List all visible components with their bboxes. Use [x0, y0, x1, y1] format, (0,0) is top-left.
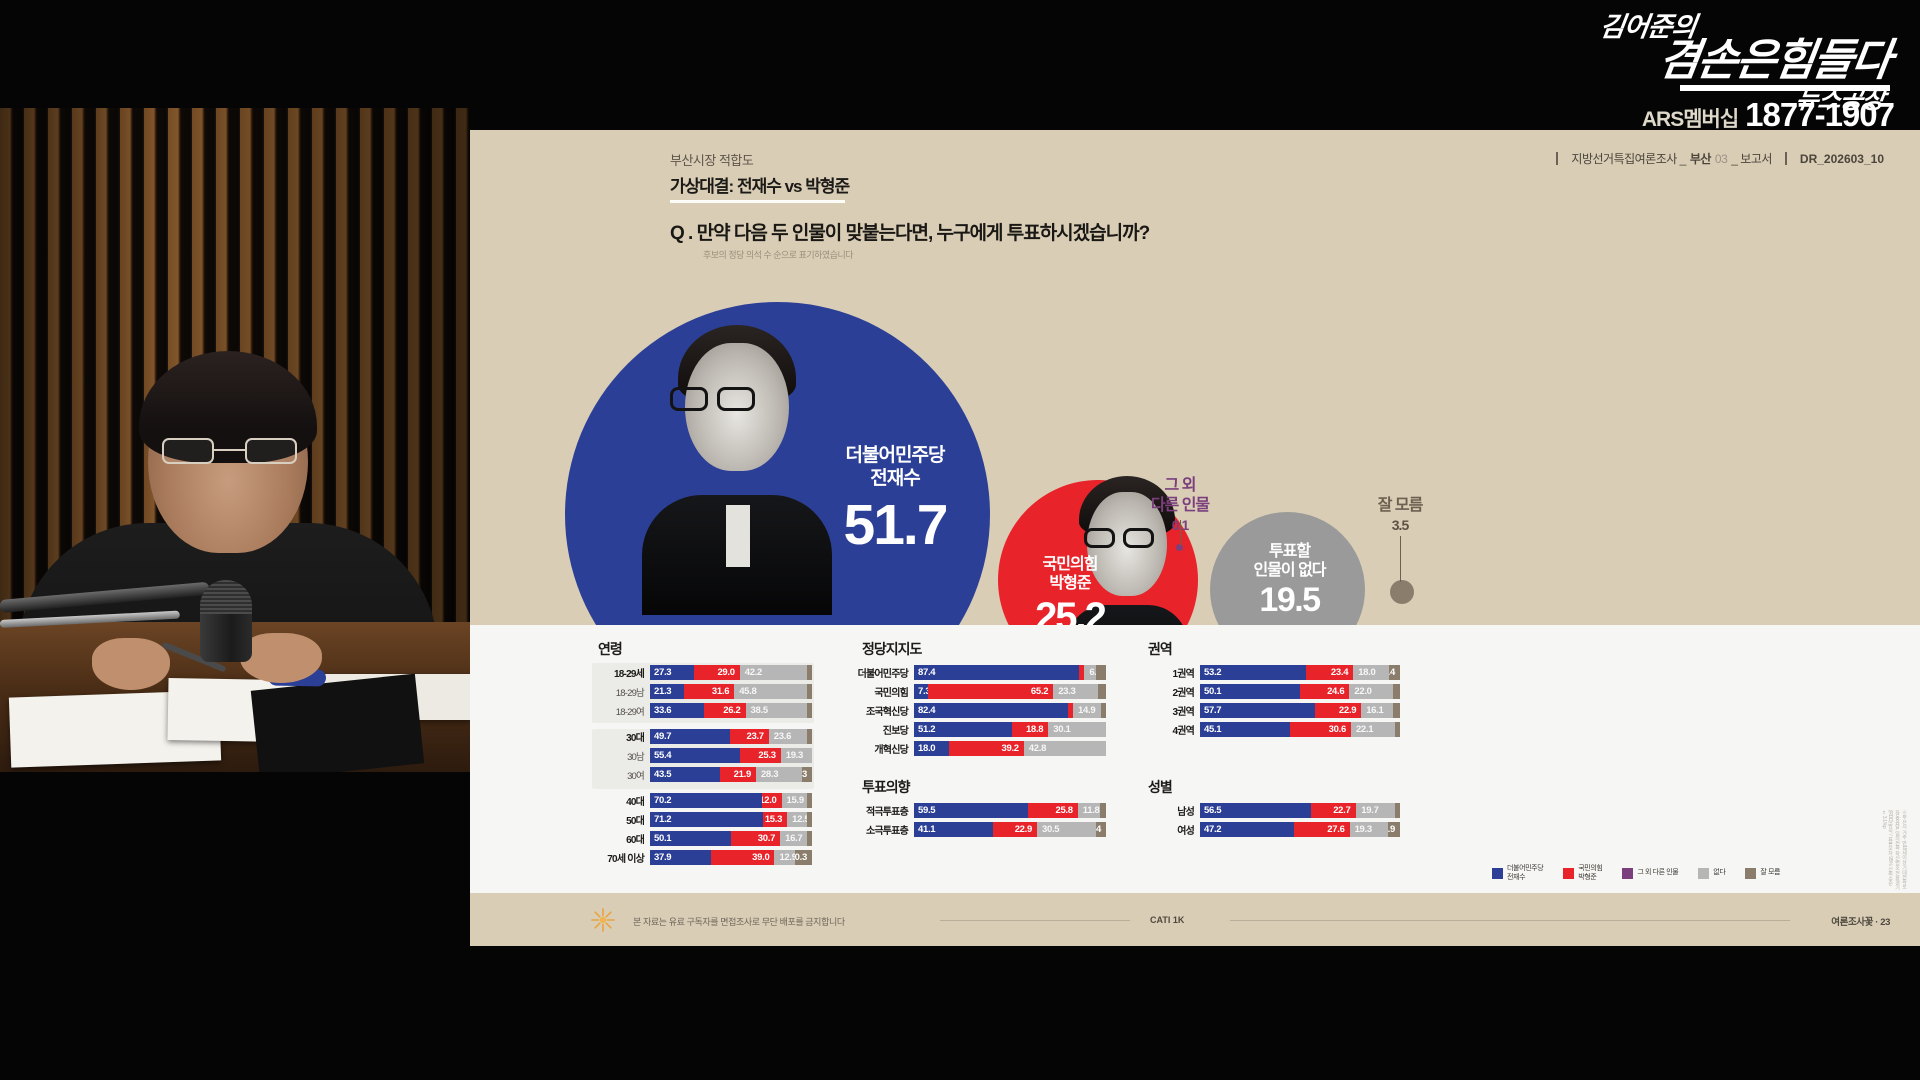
bubble-dontknow	[1390, 580, 1414, 604]
table-row: 적극투표층59.525.811.8	[856, 803, 1106, 818]
bar-segment-dk	[1395, 722, 1400, 737]
callout-dk-value: 3.5	[1335, 517, 1465, 535]
bar-segment-ppp: 25.3	[740, 748, 781, 763]
bar-segment-none: 45.8	[734, 684, 807, 699]
meta-survey: 지방선거특집여론조사 _	[1571, 150, 1685, 167]
bar-segment-ppp: 15.3	[763, 812, 787, 827]
legend-label: 없다	[1713, 869, 1725, 878]
stacked-bar: 87.46.4	[914, 665, 1106, 680]
bar-segment-dem: 49.7	[650, 729, 730, 744]
chart-intent: 적극투표층59.525.811.8소극투표층41.122.930.55.4	[856, 803, 1106, 841]
stacked-bar: 56.522.719.7	[1200, 803, 1400, 818]
hero-dem-name: 전재수	[795, 468, 995, 491]
host-hand-left	[92, 638, 170, 690]
table-row: 1권역53.223.418.05.4	[1142, 665, 1400, 680]
meta-code: DR_202603_10	[1800, 152, 1884, 166]
table-row: 30여43.521.928.36.3	[592, 767, 812, 782]
bar-segment-dk	[807, 831, 812, 846]
row-label: 18-29남	[592, 685, 650, 699]
bar-segment-dem: 7.3	[914, 684, 928, 699]
row-label: 더불어민주당	[856, 665, 914, 680]
meta-divider-2	[1785, 152, 1787, 165]
hero-none-line1: 투표할	[1222, 542, 1357, 561]
bar-segment-dk: 10.3	[795, 850, 812, 865]
bar-segment-ppp: 22.9	[993, 822, 1037, 837]
legend-swatch	[1563, 868, 1574, 879]
bar-segment-none: 30.5	[1037, 822, 1096, 837]
group-title-region: 권역	[1148, 639, 1172, 659]
ars-label: ARS멤버십	[1642, 103, 1738, 133]
legend-item: 그 외 다른 인물	[1622, 868, 1678, 879]
chart-party: 더불어민주당87.46.4국민의힘7.365.223.3조국혁신당82.414.…	[856, 665, 1106, 760]
bar-segment-none: 18.0	[1353, 665, 1389, 680]
bar-segment-dem: 41.1	[914, 822, 993, 837]
table-row: 4권역45.130.622.1	[1142, 722, 1400, 737]
bar-segment-dk	[807, 729, 812, 744]
stacked-bar: 21.331.645.8	[650, 684, 812, 699]
host-hand-right	[240, 633, 322, 683]
bar-segment-dem: 71.2	[650, 812, 763, 827]
table-row: 60대50.130.716.7	[592, 831, 812, 846]
row-label: 2권역	[1142, 684, 1200, 699]
stacked-bar: 18.039.242.8	[914, 741, 1106, 756]
bar-segment-none: 6.4	[1084, 665, 1096, 680]
bar-segment-dem: 27.3	[650, 665, 694, 680]
bar-segment-dk	[1395, 803, 1400, 818]
stacked-bar: 50.124.622.0	[1200, 684, 1400, 699]
bar-segment-ppp: 30.7	[731, 831, 780, 846]
table-row: 소극투표층41.122.930.55.4	[856, 822, 1106, 837]
bar-segment-ppp: 27.6	[1294, 822, 1349, 837]
bar-segment-none: 28.3	[756, 767, 802, 782]
stacked-bar: 47.227.619.35.9	[1200, 822, 1400, 837]
hero-label-dem: 더불어민주당 전재수 51.7	[795, 445, 995, 554]
stacked-bar: 55.425.319.3	[650, 748, 812, 763]
bar-segment-dk: 6.3	[802, 767, 812, 782]
footer-left-note: 본 자료는 유료 구독자를 면접조사로 무단 배포를 금지합니다	[633, 915, 845, 928]
bar-segment-dk	[1096, 665, 1106, 680]
row-label: 적극투표층	[856, 803, 914, 818]
row-label: 조국혁신당	[856, 703, 914, 718]
slide-meta: 지방선거특집여론조사 _ 부산 03 _ 보고서 DR_202603_10	[1556, 150, 1884, 167]
hero-bubbles: 더불어민주당 전재수 51.7 국민의힘 박형준 25.2 투표할 인물이 없다…	[470, 280, 1920, 625]
bar-segment-none: 23.6	[769, 729, 807, 744]
chart-legend: 더불어민주당전재수국민의힘박형준그 외 다른 인물없다잘 모름	[1492, 865, 1780, 883]
bar-segment-dk	[807, 703, 812, 718]
row-label: 3권역	[1142, 703, 1200, 718]
bar-segment-dk: 5.4	[1096, 822, 1106, 837]
host-glasses	[162, 438, 297, 464]
bar-segment-ppp: 22.9	[1315, 703, 1361, 718]
callout-other-line2: 다른 인물	[1115, 496, 1245, 516]
legend-label: 국민의힘박형준	[1578, 865, 1602, 883]
stacked-bar: 49.723.723.6	[650, 729, 812, 744]
bar-segment-dem: 50.1	[1200, 684, 1300, 699]
stacked-bar: 37.939.012.910.3	[650, 850, 812, 865]
broadcast-screen: 김어준의 겸손은힘들다 뉴스공장 ARS멤버십 1877-1907 부산시장 적…	[0, 0, 1920, 1080]
bar-segment-none: 42.2	[740, 665, 807, 680]
callout-dk-line1: 잘 모름	[1335, 496, 1465, 516]
bar-segment-dem: 18.0	[914, 741, 949, 756]
bar-segment-dem: 45.1	[1200, 722, 1290, 737]
meta-number: 03	[1715, 152, 1727, 166]
row-label: 18-29세	[592, 665, 650, 680]
bar-segment-dem: 50.1	[650, 831, 731, 846]
stacked-bar: 43.521.928.36.3	[650, 767, 812, 782]
bar-segment-none: 30.1	[1048, 722, 1106, 737]
table-row: 조국혁신당82.414.9	[856, 703, 1106, 718]
chart-age: 18-29세27.329.042.218-29남21.331.645.818-2…	[592, 665, 812, 869]
bar-segment-dem: 53.2	[1200, 665, 1306, 680]
bar-segment-ppp: 26.2	[704, 703, 746, 718]
bar-segment-dk	[1100, 803, 1106, 818]
bar-segment-dem: 33.6	[650, 703, 704, 718]
group-title-intent: 투표의향	[862, 777, 910, 797]
bar-segment-none: 23.3	[1053, 684, 1098, 699]
bar-segment-ppp: 39.0	[711, 850, 774, 865]
legend-item: 더불어민주당전재수	[1492, 865, 1543, 883]
logo-line-2: 겸손은힘들다	[1557, 39, 1893, 83]
bar-segment-none: 42.8	[1024, 741, 1106, 756]
row-label: 18-29여	[592, 704, 650, 718]
legend-label: 그 외 다른 인물	[1637, 869, 1678, 878]
legend-swatch	[1492, 868, 1503, 879]
row-label: 개혁신당	[856, 741, 914, 756]
side-vertical-note: ※부산시 거주 만18세이상 기대전화로 자동응답, 임의전화 착신번호 전화걸…	[1881, 810, 1908, 893]
row-label: 60대	[592, 831, 650, 846]
table-row: 40대70.212.015.9	[592, 793, 812, 808]
crosstab-panel: 연령 정당지지도 권역 투표의향 성별 18-29세27.329.042.218…	[470, 625, 1920, 893]
bar-segment-ppp: 23.4	[1306, 665, 1353, 680]
table-row: 국민의힘7.365.223.3	[856, 684, 1106, 699]
bar-segment-dem: 59.5	[914, 803, 1028, 818]
bar-segment-none: 11.8	[1078, 803, 1101, 818]
chart-region: 1권역53.223.418.05.42권역50.124.622.03권역57.7…	[1142, 665, 1400, 741]
bar-segment-dem: 87.4	[914, 665, 1079, 680]
row-label: 진보당	[856, 722, 914, 737]
footer-rule-right	[1230, 920, 1790, 921]
stacked-bar: 51.218.830.1	[914, 722, 1106, 737]
table-row: 3권역57.722.916.1	[1142, 703, 1400, 718]
bar-segment-ppp: 23.7	[730, 729, 768, 744]
bar-segment-ppp: 65.2	[928, 684, 1053, 699]
bar-segment-ppp: 24.6	[1300, 684, 1349, 699]
legend-item: 잘 모름	[1745, 868, 1780, 879]
row-label: 40대	[592, 793, 650, 808]
studio-video-feed	[0, 108, 470, 772]
bar-segment-dk: 5.9	[1388, 822, 1400, 837]
bar-segment-none: 12.5	[787, 812, 807, 827]
stacked-bar: 59.525.811.8	[914, 803, 1106, 818]
table-row: 50대71.215.312.5	[592, 812, 812, 827]
bar-segment-dem: 57.7	[1200, 703, 1315, 718]
stacked-bar: 53.223.418.05.4	[1200, 665, 1400, 680]
table-row: 더불어민주당87.46.4	[856, 665, 1106, 680]
table-row: 남성56.522.719.7	[1142, 803, 1400, 818]
legend-swatch	[1698, 868, 1709, 879]
footer-rule-left	[940, 920, 1130, 921]
row-label: 30여	[592, 768, 650, 782]
group-title-gender: 성별	[1148, 777, 1172, 797]
table-row: 30대49.723.723.6	[592, 729, 812, 744]
bar-segment-dem: 51.2	[914, 722, 1012, 737]
table-row: 70세 이상37.939.012.910.3	[592, 850, 812, 865]
bar-segment-dk	[1393, 703, 1400, 718]
stacked-bar: 33.626.238.5	[650, 703, 812, 718]
bar-segment-none: 16.7	[780, 831, 807, 846]
table-row: 18-29세27.329.042.2	[592, 665, 812, 680]
bar-segment-dem: 55.4	[650, 748, 740, 763]
bar-segment-dem: 82.4	[914, 703, 1068, 718]
hero-ppp-party: 국민의힘	[995, 555, 1145, 574]
slide-question-note: 후보의 정당 의석 수 순으로 표기하였습니다	[703, 248, 853, 261]
table-row: 18-29여33.626.238.5	[592, 703, 812, 718]
hero-none-value: 19.5	[1222, 583, 1357, 617]
stacked-bar: 57.722.916.1	[1200, 703, 1400, 718]
desk-report-cover	[251, 674, 425, 772]
bar-segment-ppp: 30.6	[1290, 722, 1351, 737]
ars-phone: 1877-1907	[1745, 96, 1894, 134]
row-label: 남성	[1142, 803, 1200, 818]
bar-segment-none: 14.9	[1073, 703, 1101, 718]
row-label: 70세 이상	[592, 850, 650, 865]
hero-dem-party: 더불어민주당	[795, 445, 995, 468]
hero-label-none: 투표할 인물이 없다 19.5	[1222, 542, 1357, 617]
ars-membership: ARS멤버십 1877-1907	[1642, 96, 1894, 134]
hero-none-line2: 인물이 없다	[1222, 561, 1357, 580]
row-label: 여성	[1142, 822, 1200, 837]
stacked-bar: 41.122.930.55.4	[914, 822, 1106, 837]
bar-segment-dk	[807, 684, 812, 699]
row-label: 50대	[592, 812, 650, 827]
bar-segment-none: 15.9	[782, 793, 807, 808]
table-row: 30남55.425.319.3	[592, 748, 812, 763]
bar-segment-ppp: 22.7	[1311, 803, 1356, 818]
bar-segment-dk	[1098, 684, 1106, 699]
bar-segment-dem: 47.2	[1200, 822, 1294, 837]
legend-swatch	[1745, 868, 1756, 879]
slide-footer: 본 자료는 유료 구독자를 면접조사로 무단 배포를 금지합니다 CATI 1K…	[470, 893, 1920, 946]
table-row: 개혁신당18.039.242.8	[856, 741, 1106, 756]
legend-label: 더불어민주당전재수	[1507, 865, 1543, 883]
bar-segment-dk	[807, 665, 812, 680]
row-label: 국민의힘	[856, 684, 914, 699]
bar-segment-none: 19.7	[1356, 803, 1395, 818]
row-label: 30남	[592, 749, 650, 763]
stacked-bar: 50.130.716.7	[650, 831, 812, 846]
row-label: 4권역	[1142, 722, 1200, 737]
bar-segment-dem: 70.2	[650, 793, 762, 808]
bar-segment-none: 38.5	[746, 703, 807, 718]
table-row: 2권역50.124.622.0	[1142, 684, 1400, 699]
hero-dem-value: 51.7	[795, 497, 995, 554]
stacked-bar: 71.215.312.5	[650, 812, 812, 827]
group-title-party: 정당지지도	[862, 639, 921, 659]
bar-segment-dem: 21.3	[650, 684, 684, 699]
bar-segment-none: 22.0	[1349, 684, 1393, 699]
table-row: 진보당51.218.830.1	[856, 722, 1106, 737]
poll-slide: 부산시장 적합도 가상대결: 전재수 vs 박형준 Q . 만약 다음 두 인물…	[470, 130, 1920, 946]
callout-other-line1: 그 외	[1115, 476, 1245, 496]
hero-ppp-name: 박형준	[995, 574, 1145, 593]
table-row: 18-29남21.331.645.8	[592, 684, 812, 699]
bar-segment-ppp: 12.0	[762, 793, 781, 808]
bar-segment-none: 19.3	[781, 748, 812, 763]
legend-item: 없다	[1698, 868, 1725, 879]
chart-gender: 남성56.522.719.7여성47.227.619.35.9	[1142, 803, 1400, 841]
bar-segment-none: 22.1	[1351, 722, 1395, 737]
legend-label: 잘 모름	[1760, 869, 1780, 878]
bar-segment-dk: 5.4	[1389, 665, 1400, 680]
bar-segment-none: 16.1	[1361, 703, 1393, 718]
table-row: 여성47.227.619.35.9	[1142, 822, 1400, 837]
bar-segment-dem: 37.9	[650, 850, 711, 865]
footer-center: CATI 1K	[1150, 915, 1184, 925]
legend-swatch	[1622, 868, 1633, 879]
footer-right: 여론조사꽃 · 23	[1831, 914, 1890, 928]
legend-item: 국민의힘박형준	[1563, 865, 1602, 883]
bar-segment-ppp: 25.8	[1028, 803, 1078, 818]
bar-segment-none: 19.3	[1350, 822, 1389, 837]
leader-line-other	[1180, 520, 1181, 546]
stacked-bar: 82.414.9	[914, 703, 1106, 718]
stacked-bar: 70.212.015.9	[650, 793, 812, 808]
slide-title: 가상대결: 전재수 vs 박형준	[670, 172, 849, 197]
meta-region: 부산	[1690, 150, 1711, 167]
callout-dontknow: 잘 모름 3.5	[1335, 496, 1465, 535]
row-label: 1권역	[1142, 665, 1200, 680]
bar-segment-dk	[1393, 684, 1400, 699]
meta-kind: _ 보고서	[1731, 150, 1772, 167]
meta-divider-1	[1556, 152, 1558, 165]
bar-segment-dk	[807, 812, 812, 827]
leader-line-dontknow	[1400, 536, 1401, 582]
bar-segment-dem: 56.5	[1200, 803, 1311, 818]
bar-segment-ppp: 18.8	[1012, 722, 1048, 737]
bar-segment-ppp: 29.0	[694, 665, 740, 680]
slide-title-rule	[670, 200, 845, 203]
bar-segment-dk	[807, 793, 812, 808]
group-title-age: 연령	[598, 639, 622, 659]
stacked-bar: 27.329.042.2	[650, 665, 812, 680]
stacked-bar: 7.365.223.3	[914, 684, 1106, 699]
bar-segment-none: 12.9	[774, 850, 795, 865]
bar-segment-dem: 43.5	[650, 767, 720, 782]
row-label: 소극투표층	[856, 822, 914, 837]
bar-segment-ppp: 31.6	[684, 684, 734, 699]
row-label: 30대	[592, 729, 650, 744]
slide-kicker: 부산시장 적합도	[670, 150, 753, 169]
bar-segment-dk	[1101, 703, 1106, 718]
bar-segment-ppp: 21.9	[720, 767, 755, 782]
bar-segment-ppp: 39.2	[949, 741, 1024, 756]
stacked-bar: 45.130.622.1	[1200, 722, 1400, 737]
sun-logo-icon	[590, 907, 616, 933]
slide-question: Q . 만약 다음 두 인물이 맞붙는다면, 누구에게 투표하시겠습니까?	[670, 218, 1149, 245]
